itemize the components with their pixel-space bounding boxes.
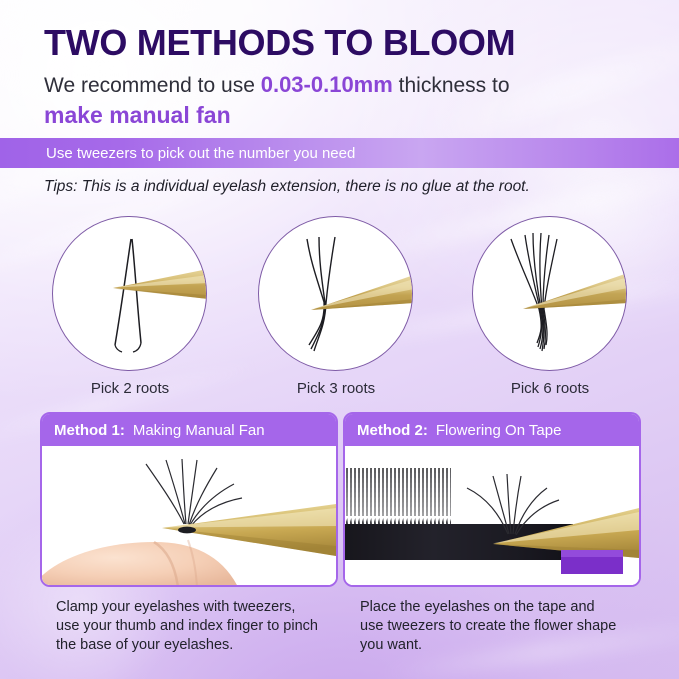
method-1-number: Method 1: bbox=[54, 422, 125, 439]
method-2-photo bbox=[345, 446, 639, 587]
method-1-panel: Method 1: Making Manual Fan bbox=[40, 412, 338, 587]
tweezer-lashes-icon bbox=[473, 217, 627, 371]
tips-text: Tips: This is a individual eyelash exten… bbox=[44, 178, 530, 196]
recommendation-line-2: make manual fan bbox=[44, 102, 231, 129]
hand-pinching-lash-fan-with-tweezers-photo bbox=[42, 446, 336, 587]
pick-label-1: Pick 2 roots bbox=[50, 380, 210, 397]
method-1-name: Making Manual Fan bbox=[133, 422, 265, 439]
pick-circle-1 bbox=[52, 216, 207, 371]
method-1-caption: Clamp your eyelashes with tweezers, use … bbox=[56, 598, 346, 655]
page-title: TWO METHODS TO BLOOM bbox=[44, 22, 515, 64]
lashes-on-black-tape-with-tweezers-photo bbox=[345, 446, 639, 587]
method-1-header: Method 1: Making Manual Fan bbox=[42, 414, 336, 446]
infographic-page: TWO METHODS TO BLOOM We recommend to use… bbox=[0, 0, 679, 679]
tweezer-lashes-icon bbox=[259, 217, 413, 371]
pick-label-2: Pick 3 roots bbox=[256, 380, 416, 397]
pick-label-3: Pick 6 roots bbox=[470, 380, 630, 397]
pick-circle-2 bbox=[258, 216, 413, 371]
instruction-banner-label: Use tweezers to pick out the number you … bbox=[46, 145, 355, 162]
recommendation-line: We recommend to use 0.03-0.10mm thicknes… bbox=[44, 72, 510, 98]
method-2-header: Method 2: Flowering On Tape bbox=[345, 414, 639, 446]
recommendation-suffix: thickness to bbox=[393, 74, 510, 97]
recommendation-prefix: We recommend to use bbox=[44, 74, 261, 97]
method-2-caption: Place the eyelashes on the tape and use … bbox=[360, 598, 650, 655]
method-2-name: Flowering On Tape bbox=[436, 422, 562, 439]
method-2-panel: Method 2: Flowering On Tape bbox=[343, 412, 641, 587]
thickness-value: 0.03-0.10mm bbox=[261, 72, 393, 97]
pick-circle-3 bbox=[472, 216, 627, 371]
method-2-number: Method 2: bbox=[357, 422, 428, 439]
method-1-photo bbox=[42, 446, 336, 587]
tweezer-lashes-icon bbox=[53, 217, 207, 371]
